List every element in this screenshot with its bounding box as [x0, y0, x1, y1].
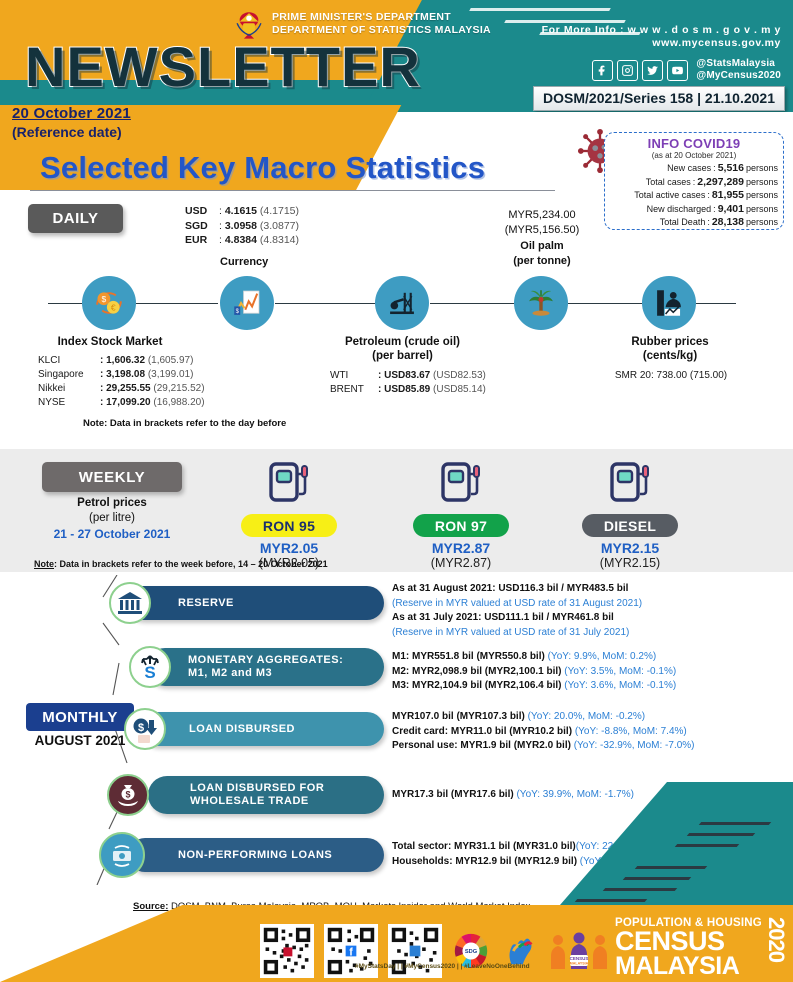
covid-colon: : — [707, 216, 710, 230]
census-line-2: CENSUS — [615, 929, 785, 954]
petroleum-label: BRENT — [330, 383, 378, 397]
fuel-pump-icon — [435, 460, 487, 508]
newsletter-wordmark: NEWSLETTER — [25, 34, 421, 99]
currency-label: Currency — [220, 256, 268, 268]
page-title: Selected Key Macro Statistics — [40, 150, 485, 186]
fuel-price-ron95: MYR2.05 — [225, 540, 353, 556]
department-line-1: PRIME MINISTER'S DEPARTMENT — [272, 11, 491, 24]
monetary-aggregates-label-line-1: MONETARY AGGREGATES: — [188, 654, 343, 666]
covid-colon: : — [693, 176, 696, 190]
reference-date: 20 October 2021 — [12, 105, 131, 122]
petroleum-value: : USD85.89 — [378, 384, 430, 395]
series-badge: DOSM/2021/Series 158 | 21.10.2021 — [533, 86, 785, 111]
covid-row: Total active cases : 81,955 persons — [605, 189, 778, 203]
social-links[interactable]: @StatsMalaysia @MyCensus2020 — [592, 58, 781, 82]
rubber-prices-icon — [642, 276, 696, 330]
instagram-icon[interactable] — [617, 60, 638, 81]
wholesale-line-1: MYR17.3 bil (MYR17.6 bil) (YoY: 39.9%, M… — [392, 788, 634, 803]
footer-hashtags: #MyStatsDay | | #MyCensus2020 | | #Leave… — [355, 963, 530, 970]
stock-value: : 1,606.32 — [100, 355, 145, 366]
stock-value: : 3,198.08 — [100, 369, 145, 380]
more-info-line-1: For More Info : w w w . d o s m . g o v … — [542, 24, 781, 37]
stock-label: Nikkei — [38, 382, 100, 396]
rubber-title-1: Rubber prices — [600, 336, 740, 348]
petroleum-title-2: (per barrel) — [320, 350, 485, 362]
wholesale-trade-values: MYR17.3 bil (MYR17.6 bil) (YoY: 39.9%, M… — [392, 788, 634, 803]
petrol-caption-line-1: Petrol prices — [42, 496, 182, 511]
covid-info-box: INFO COVID19 (as at 20 October 2021) New… — [604, 132, 784, 230]
svg-text:SDG: SDG — [465, 949, 478, 955]
more-info: For More Info : w w w . d o s m . g o v … — [542, 24, 781, 50]
npl-line-2-text: Households: MYR12.9 bil (MYR12.9 bil) — [392, 856, 577, 867]
palm-tree-icon — [524, 286, 558, 320]
covid-row: Total Death : 28,138 persons — [605, 216, 778, 230]
stock-value: : 17,099.20 — [100, 397, 151, 408]
covid-rows: New cases : 5,516 persons Total cases : … — [605, 162, 783, 230]
petrol-caption-line-2: (per litre) — [42, 511, 182, 526]
reserve-values: As at 31 August 2021: USD116.3 bil / MYR… — [392, 582, 642, 640]
census-logo: POPULATION & HOUSING CENSUS MALAYSIA YOU… — [615, 917, 785, 982]
footer-stripe — [635, 866, 708, 869]
currency-row: SGD: 3.0958 (3.0877) — [185, 219, 299, 234]
weekly-badge: WEEKLY — [42, 462, 182, 492]
stock-prev: (29,215.52) — [153, 383, 204, 394]
covid-row: New cases : 5,516 persons — [605, 162, 778, 176]
footer-stripe — [575, 899, 648, 902]
svg-text:CENSUS: CENSUS — [570, 956, 589, 961]
covid-label: Total cases — [646, 176, 691, 190]
monetary-line-3-suffix: (YoY: 3.6%, MoM: -0.1%) — [562, 680, 677, 691]
timeline-segment — [430, 303, 514, 304]
footer-stripe — [623, 877, 692, 880]
non-performing-loans-bar: NON-PERFORMING LOANS — [128, 838, 384, 872]
fuel-name-pill-ron95: RON 95 — [241, 514, 337, 537]
currency-prev: (4.8314) — [260, 234, 299, 246]
currency-row: EUR: 4.8384 (4.8314) — [185, 233, 299, 248]
stock-prev: (1,605.97) — [148, 355, 194, 366]
rubber-title-2: (cents/kg) — [600, 350, 740, 362]
fuel-card-ron97: RON 97 MYR2.87 (MYR2.87) — [397, 460, 525, 570]
chart-up-icon: $ — [230, 286, 264, 320]
twitter-icon[interactable] — [642, 60, 663, 81]
loan-line-1-text: MYR107.0 bil (MYR107.3 bil) — [392, 711, 525, 722]
fuel-name-pill-diesel: DIESEL — [582, 514, 678, 537]
timeline-segment — [696, 303, 736, 304]
svg-text:$: $ — [138, 722, 144, 734]
monetary-aggregates-values: M1: MYR551.8 bil (MYR550.8 bil) (YoY: 9.… — [392, 650, 676, 694]
stock-label: NYSE — [38, 396, 100, 410]
stock-row: Singapore: 3,198.08 (3,199.01) — [38, 368, 205, 382]
wholesale-line-1-suffix: (YoY: 39.9%, MoM: -1.7%) — [514, 789, 634, 800]
covid-value: 28,138 — [712, 216, 744, 230]
fuel-name-pill-ron97: RON 97 — [413, 514, 509, 537]
footer-stripe — [699, 822, 772, 825]
monetary-line-2: M2: MYR2,098.9 bil (MYR2,100.1 bil) (YoY… — [392, 665, 676, 680]
newsletter-page: PRIME MINISTER'S DEPARTMENT DEPARTMENT O… — [0, 0, 793, 982]
covid-unit: persons — [746, 203, 778, 217]
monetary-line-1-suffix: (YoY: 9.9%, MoM: 0.2%) — [545, 651, 656, 662]
footer-stripe — [687, 833, 756, 836]
timeline-segment — [48, 303, 82, 304]
monetary-line-1: M1: MYR551.8 bil (MYR550.8 bil) (YoY: 9.… — [392, 650, 676, 665]
fuel-prev-diesel: (MYR2.15) — [566, 556, 694, 570]
loan-line-2-text: Credit card: MYR11.0 bil (MYR10.2 bil) — [392, 726, 572, 737]
non-performing-loans-label: NON-PERFORMING LOANS — [128, 849, 332, 862]
handle-statsmalaysia: @StatsMalaysia — [696, 58, 781, 70]
header-stripe — [504, 20, 626, 23]
petrol-caption-dates: 21 - 27 October 2021 — [42, 526, 182, 542]
petroleum-title-1: Petroleum (crude oil) — [320, 336, 485, 348]
monetary-aggregates-bar: MONETARY AGGREGATES: M1, M2 and M3 — [146, 648, 384, 686]
census-year: 2020 — [765, 917, 787, 962]
fuel-card-ron95: RON 95 MYR2.05 (MYR2.05) — [225, 460, 353, 570]
covid-unit: persons — [746, 189, 778, 203]
stock-prev: (3,199.01) — [148, 369, 194, 380]
covid-unit: persons — [746, 162, 778, 176]
oil-palm-icon — [514, 276, 568, 330]
money-arrows-icon: S — [136, 653, 164, 681]
reserve-line-1: As at 31 August 2021: USD116.3 bil / MYR… — [392, 582, 642, 597]
loan-line-2: Credit card: MYR11.0 bil (MYR10.2 bil) (… — [392, 725, 695, 740]
wholesale-trade-label-line-2: WHOLESALE TRADE — [190, 795, 309, 807]
loan-line-2-suffix: (YoY: -8.8%, MoM: 7.4%) — [572, 726, 687, 737]
census-line-3: MALAYSIA — [615, 954, 785, 979]
index-stock-market-rows: KLCI: 1,606.32 (1,605.97) Singapore: 3,1… — [38, 354, 205, 410]
monetary-line-1-text: M1: MYR551.8 bil (MYR550.8 bil) — [392, 651, 545, 662]
currency-code: SGD — [185, 219, 219, 234]
coins-exchange-icon: $ € — [92, 286, 126, 320]
petroleum-row: BRENT: USD85.89 (USD85.14) — [330, 383, 486, 397]
covid-label: New cases — [667, 162, 711, 176]
qr-code-dosm-icon[interactable] — [260, 924, 314, 978]
currency-value: 3.0958 — [225, 220, 257, 232]
monetary-aggregates-label: MONETARY AGGREGATES: M1, M2 and M3 — [146, 654, 343, 680]
money-down-arrow-icon: $ — [131, 715, 159, 743]
page-header: PRIME MINISTER'S DEPARTMENT DEPARTMENT O… — [0, 0, 793, 112]
reserve-line-3: As at 31 July 2021: USD111.1 bil / MYR46… — [392, 611, 642, 626]
svg-text:MALAYSIA: MALAYSIA — [570, 962, 589, 966]
monthly-month: AUGUST 2021 — [26, 733, 134, 748]
petrol-caption: Petrol prices (per litre) 21 - 27 Octobe… — [42, 496, 182, 542]
oil-palm-prev: (MYR5,156.50) — [487, 223, 597, 238]
footer-stripe — [603, 888, 678, 891]
census-people-icon: CENSUS MALAYSIA — [548, 931, 610, 971]
covid-colon: : — [707, 189, 710, 203]
currency-value: 4.8384 — [225, 234, 257, 246]
money-cycle-icon — [108, 841, 136, 869]
daily-badge: DAILY — [28, 204, 123, 233]
stock-row: Nikkei: 29,255.55 (29,215.52) — [38, 382, 205, 396]
reference-date-sub: (Reference date) — [12, 124, 122, 140]
stock-label: KLCI — [38, 354, 100, 368]
monetary-aggregates-label-line-2: M1, M2 and M3 — [188, 667, 272, 679]
fuel-price-diesel: MYR2.15 — [566, 540, 694, 556]
stock-row: NYSE: 17,099.20 (16,988.20) — [38, 396, 205, 410]
monetary-aggregates-icon: S — [129, 646, 171, 688]
svg-text:€: € — [111, 303, 116, 313]
timeline-segment — [275, 303, 375, 304]
petroleum-prev: (USD82.53) — [433, 370, 486, 381]
money-bag-hand-icon: $ — [114, 781, 142, 809]
covid-colon: : — [713, 203, 716, 217]
petroleum-rows: WTI: USD83.67 (USD82.53) BRENT: USD85.89… — [330, 369, 486, 397]
stock-label: Singapore — [38, 368, 100, 382]
monetary-line-2-text: M2: MYR2,098.9 bil (MYR2,100.1 bil) — [392, 666, 562, 677]
covid-value: 5,516 — [718, 162, 744, 176]
timeline-segment — [568, 303, 642, 304]
oil-palm-name-line-2: (per tonne) — [487, 254, 597, 268]
non-performing-loans-icon — [99, 832, 145, 878]
covid-value: 2,297,289 — [697, 176, 744, 190]
wholesale-trade-bar: LOAN DISBURSED FOR WHOLESALE TRADE — [148, 776, 384, 814]
svg-text:$: $ — [102, 294, 107, 304]
handle-mycensus2020: @MyCensus2020 — [696, 70, 781, 82]
monetary-line-3-text: M3: MYR2,104.9 bil (MYR2,106.4 bil) — [392, 680, 562, 691]
oil-palm-name-line-1: Oil palm — [487, 239, 597, 253]
bank-reserve-icon — [109, 582, 151, 624]
bank-building-icon — [116, 589, 144, 617]
wholesale-loan-icon: $ — [107, 774, 149, 816]
loan-disbursed-icon: $ — [124, 708, 166, 750]
covid-value: 9,401 — [718, 203, 744, 217]
currency-code: EUR — [185, 233, 219, 248]
npl-line-1-text: Total sector: MYR31.1 bil (MYR31.0 bil) — [392, 841, 576, 852]
petroleum-icon — [375, 276, 429, 330]
wholesale-trade-label: LOAN DISBURSED FOR WHOLESALE TRADE — [148, 782, 324, 808]
footer-stripe — [675, 844, 740, 847]
loan-disbursed-values: MYR107.0 bil (MYR107.3 bil) (YoY: 20.0%,… — [392, 710, 695, 754]
loan-line-3-suffix: (YoY: -32.9%, MoM: -7.0%) — [571, 740, 695, 751]
currency-chart-icon: $ — [220, 276, 274, 330]
wholesale-line-1-text: MYR17.3 bil (MYR17.6 bil) — [392, 789, 514, 800]
stock-prev: (16,988.20) — [153, 397, 204, 408]
loan-line-3-text: Personal use: MYR1.9 bil (MYR2.0 bil) — [392, 740, 571, 751]
oil-palm-block: MYR5,234.00 (MYR5,156.50) Oil palm (per … — [487, 208, 597, 268]
oil-palm-value: MYR5,234.00 — [487, 208, 597, 223]
loan-line-1-suffix: (YoY: 20.0%, MoM: -0.2%) — [525, 711, 645, 722]
weekly-note-text: : Data in brackets refer to the week bef… — [54, 559, 328, 569]
covid-unit: persons — [746, 176, 778, 190]
petroleum-value: : USD83.67 — [378, 370, 430, 381]
weekly-note-prefix: Note — [34, 559, 54, 569]
reserve-line-2: (Reserve in MYR valued at USD rate of 31… — [392, 597, 642, 612]
covid-label: Total Death — [660, 216, 706, 230]
petroleum-prev: (USD85.14) — [433, 384, 486, 395]
reserve-bar: RESERVE — [126, 586, 384, 620]
daily-note: Note: Data in brackets refer to the day … — [83, 418, 286, 429]
more-info-line-2: www.mycensus.gov.my — [542, 37, 781, 50]
loan-disbursed-bar: LOAN DISBURSED — [141, 712, 384, 746]
stock-row: KLCI: 1,606.32 (1,605.97) — [38, 354, 205, 368]
currency-row: USD: 4.1615 (4.1715) — [185, 204, 299, 219]
stock-value: : 29,255.55 — [100, 383, 151, 394]
source-prefix: Source: — [133, 901, 168, 912]
fuel-pump-icon — [263, 460, 315, 508]
svg-text:S: S — [144, 663, 155, 681]
index-stock-market-icon: $ € — [82, 276, 136, 330]
covid-value: 81,955 — [712, 189, 744, 203]
monetary-line-3: M3: MYR2,104.9 bil (MYR2,106.4 bil) (YoY… — [392, 679, 676, 694]
covid-row: Total cases : 2,297,289 persons — [605, 176, 778, 190]
fuel-card-diesel: DIESEL MYR2.15 (MYR2.15) — [566, 460, 694, 570]
currency-block: USD: 4.1615 (4.1715) SGD: 3.0958 (3.0877… — [185, 204, 299, 248]
fuel-price-ron97: MYR2.87 — [397, 540, 525, 556]
timeline-segment — [136, 303, 218, 304]
covid-label: Total active cases — [634, 189, 705, 203]
petroleum-label: WTI — [330, 369, 378, 383]
covid-unit: persons — [746, 216, 778, 230]
oil-pump-icon — [385, 286, 419, 320]
currency-prev: (4.1715) — [260, 205, 299, 217]
currency-value: 4.1615 — [225, 205, 257, 217]
covid-row: New discharged : 9,401 persons — [605, 203, 778, 217]
monetary-line-2-suffix: (YoY: 3.5%, MoM: -0.1%) — [562, 666, 677, 677]
fuel-prev-ron97: (MYR2.87) — [397, 556, 525, 570]
wholesale-trade-label-line-1: LOAN DISBURSED FOR — [190, 782, 324, 794]
currency-prev: (3.0877) — [260, 220, 299, 232]
covid-title: INFO COVID19 — [605, 136, 783, 151]
covid-colon: : — [713, 162, 716, 176]
loan-line-3: Personal use: MYR1.9 bil (MYR2.0 bil) (Y… — [392, 739, 695, 754]
monthly-badge: MONTHLY — [26, 703, 134, 731]
title-divider — [30, 190, 555, 191]
fuel-pump-icon — [604, 460, 656, 508]
covid-subtitle: (as at 20 October 2021) — [605, 151, 783, 160]
rubber-row: SMR 20: 738.00 (715.00) — [596, 369, 746, 383]
reserve-line-4: (Reserve in MYR valued at USD rate of 31… — [392, 626, 642, 641]
currency-code: USD — [185, 204, 219, 219]
petroleum-row: WTI: USD83.67 (USD82.53) — [330, 369, 486, 383]
social-handles: @StatsMalaysia @MyCensus2020 — [696, 58, 781, 82]
svg-text:f: f — [349, 946, 353, 958]
facebook-icon[interactable] — [592, 60, 613, 81]
rubber-tapper-icon — [652, 286, 686, 320]
index-stock-market-title: Index Stock Market — [40, 336, 180, 348]
svg-text:$: $ — [125, 790, 130, 800]
weekly-note: Note: Data in brackets refer to the week… — [34, 559, 328, 569]
youtube-icon[interactable] — [667, 60, 688, 81]
covid-label: New discharged — [647, 203, 712, 217]
loan-line-1: MYR107.0 bil (MYR107.3 bil) (YoY: 20.0%,… — [392, 710, 695, 725]
